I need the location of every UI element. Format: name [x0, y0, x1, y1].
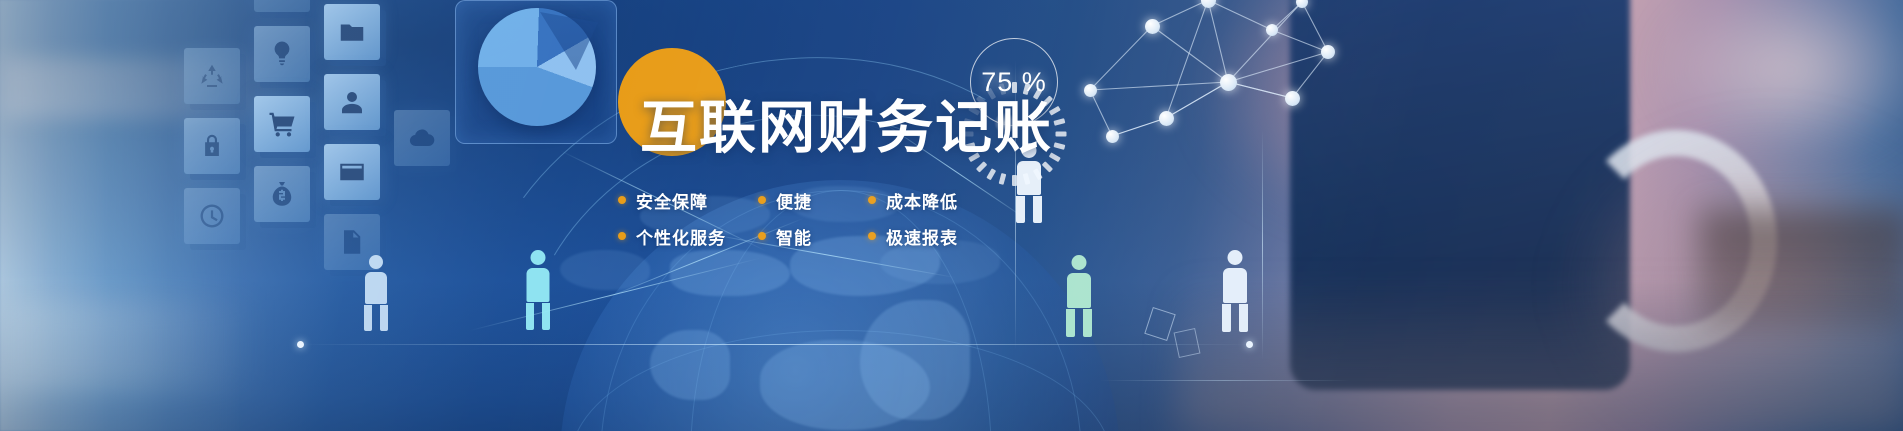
bullet-dot-icon: [618, 196, 626, 204]
bullet-dot-icon: [618, 232, 626, 240]
person-icon: [324, 74, 380, 130]
shopping-cart-icon: [254, 96, 310, 152]
person-pictogram: [1218, 250, 1252, 332]
network-graph: [1060, 0, 1360, 200]
icon-cube-wall: [150, 0, 420, 260]
bullet-dot-icon: [868, 196, 876, 204]
clock-icon: [184, 188, 240, 244]
hud-dot-right: [1246, 341, 1253, 348]
feature-item-成本降低: 成本降低: [868, 188, 1008, 213]
credit-card-icon: [324, 144, 380, 200]
lightbulb-icon: [254, 26, 310, 82]
feature-label: 安全保障: [636, 188, 708, 213]
page-title: 互联网财务记账: [640, 100, 1053, 157]
folder-icon: [324, 4, 380, 60]
feature-label: 智能: [776, 224, 812, 249]
bullet-dot-icon: [868, 232, 876, 240]
hud-line-short: [1100, 380, 1350, 381]
hud-dot-left: [297, 341, 304, 348]
cloud-icon: [394, 110, 450, 166]
feature-label: 成本降低: [886, 188, 958, 213]
money-bag-icon: [254, 166, 310, 222]
feature-list: 安全保障 便捷 成本降低 个性化服务 智能 极速报表: [618, 182, 1018, 254]
feature-label: 便捷: [776, 188, 812, 213]
bullet-dot-icon: [758, 232, 766, 240]
feature-row: 个性化服务 智能 极速报表: [618, 218, 1018, 254]
bullet-dot-icon: [758, 196, 766, 204]
promo-banner: 75 %: [0, 0, 1903, 431]
feature-label: 个性化服务: [636, 224, 726, 249]
person-pictogram: [522, 250, 554, 330]
person-pictogram: [360, 255, 392, 331]
hud-line-bottom: [300, 344, 1250, 345]
hud-line-vertical-right: [1262, 130, 1263, 360]
feature-item-极速报表: 极速报表: [868, 224, 1008, 249]
feature-item-安全保障: 安全保障: [618, 188, 758, 213]
lock-icon: [184, 118, 240, 174]
chart-bar-icon: [254, 0, 310, 12]
feature-item-便捷: 便捷: [758, 188, 868, 213]
feature-item-智能: 智能: [758, 224, 868, 249]
recycle-icon: [184, 48, 240, 104]
feature-row: 安全保障 便捷 成本降低: [618, 182, 1018, 218]
feature-item-个性化服务: 个性化服务: [618, 224, 758, 249]
person-pictogram: [1062, 255, 1096, 337]
feature-label: 极速报表: [886, 224, 958, 249]
